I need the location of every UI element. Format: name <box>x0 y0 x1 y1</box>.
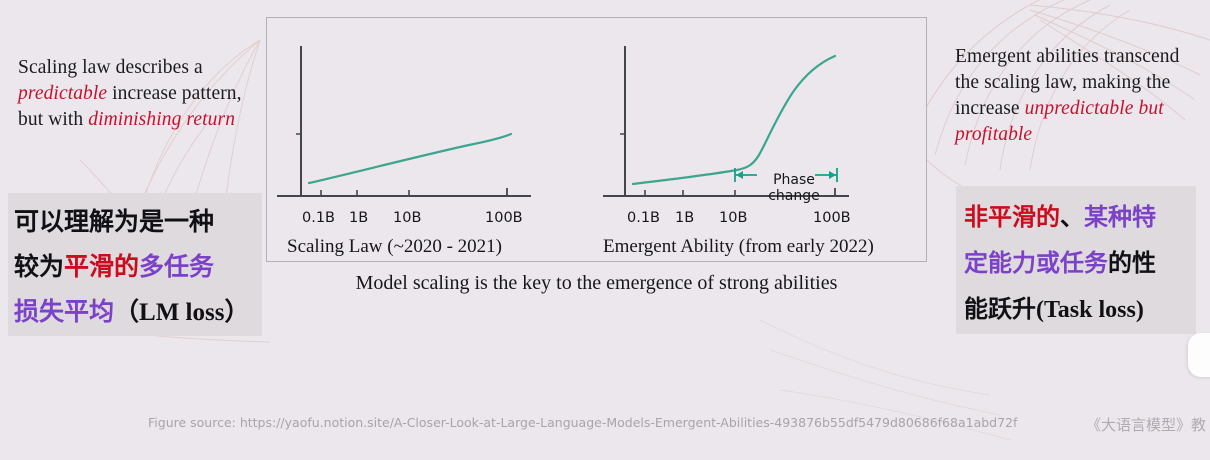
tick-label-0: 0.1B <box>627 210 660 226</box>
cn-right-line3-b: (Task loss) <box>1036 297 1144 323</box>
left-note-emphasis-1: predictable <box>18 83 107 104</box>
cn-left-line3-b: （LM loss） <box>114 299 249 326</box>
scaling-law-x-tick-labels: 0.1B 1B 10B 100B <box>269 210 591 230</box>
figure-bottom-caption: Model scaling is the key to the emergenc… <box>266 272 927 295</box>
cn-left-line2-c: 多任务 <box>139 252 214 281</box>
cn-right-line1-c: 某种特 <box>1084 203 1156 231</box>
tick-label-3: 100B <box>813 210 851 226</box>
cn-left-line-1: 可以理解为是一种 <box>14 199 258 244</box>
chart-emergent-ability: Phase change 0.1B 1B 10B 100B Emergent A… <box>597 18 925 261</box>
cn-left-line-2: 较为平滑的多任务 <box>14 244 258 289</box>
chinese-note-left: 可以理解为是一种 较为平滑的多任务 损失平均（LM loss） <box>8 193 262 336</box>
book-title-watermark: 《大语言模型》教 <box>1086 414 1206 435</box>
footer: Figure source: https://yaofu.notion.site… <box>0 408 1210 440</box>
tick-label-2: 10B <box>719 210 747 226</box>
emergent-ability-x-tick-labels: 0.1B 1B 10B 100B <box>597 210 925 230</box>
left-note-emphasis-2: diminishing return <box>88 109 235 130</box>
cn-right-line-1: 非平滑的、某种特 <box>964 194 1194 240</box>
left-english-note: Scaling law describes a predictable incr… <box>18 55 268 133</box>
cn-right-line1-a: 非平滑的 <box>964 203 1060 231</box>
cn-left-line2-a: 较为 <box>14 252 64 281</box>
phase-change-line-2: change <box>759 188 829 204</box>
chinese-note-right: 非平滑的、某种特 定能力或任务的性 能跃升(Task loss) <box>956 186 1196 334</box>
cn-right-line2-b: 的性 <box>1108 249 1156 277</box>
scaling-law-plot <box>269 24 591 214</box>
cn-left-line2-b: 平滑的 <box>64 252 139 281</box>
edge-badge <box>1188 333 1210 377</box>
cn-right-line1-b: 、 <box>1060 203 1084 231</box>
phase-change-line-1: Phase <box>759 172 829 188</box>
left-note-text-1: Scaling law describes a <box>18 57 203 78</box>
emergent-ability-caption: Emergent Ability (from early 2022) <box>597 236 931 258</box>
tick-label-2: 10B <box>393 210 421 226</box>
cn-right-line3-a: 能跃升 <box>964 295 1036 323</box>
tick-label-3: 100B <box>485 210 523 226</box>
tick-label-0: 0.1B <box>302 210 335 226</box>
chart-scaling-law: 0.1B 1B 10B 100B Scaling Law (~2020 - 20… <box>269 18 591 261</box>
cn-right-line2-a: 定能力或任务 <box>964 249 1108 277</box>
cn-right-line-2: 定能力或任务的性 <box>964 240 1194 286</box>
phase-change-annotation: Phase change <box>759 172 829 204</box>
tick-label-1: 1B <box>349 210 368 226</box>
figure-source-link[interactable]: Figure source: https://yaofu.notion.site… <box>148 415 1017 430</box>
cn-left-line3-a: 损失平均 <box>14 297 114 326</box>
tick-label-1: 1B <box>675 210 694 226</box>
cn-left-line-3: 损失平均（LM loss） <box>14 289 258 335</box>
figure-panel: 0.1B 1B 10B 100B Scaling Law (~2020 - 20… <box>266 17 927 262</box>
cn-left-line1-text: 可以理解为是一种 <box>14 207 214 236</box>
cn-right-line-3: 能跃升(Task loss) <box>964 286 1194 333</box>
scaling-law-caption: Scaling Law (~2020 - 2021) <box>269 236 609 258</box>
right-english-note: Emergent abilities transcend the scaling… <box>955 44 1205 148</box>
